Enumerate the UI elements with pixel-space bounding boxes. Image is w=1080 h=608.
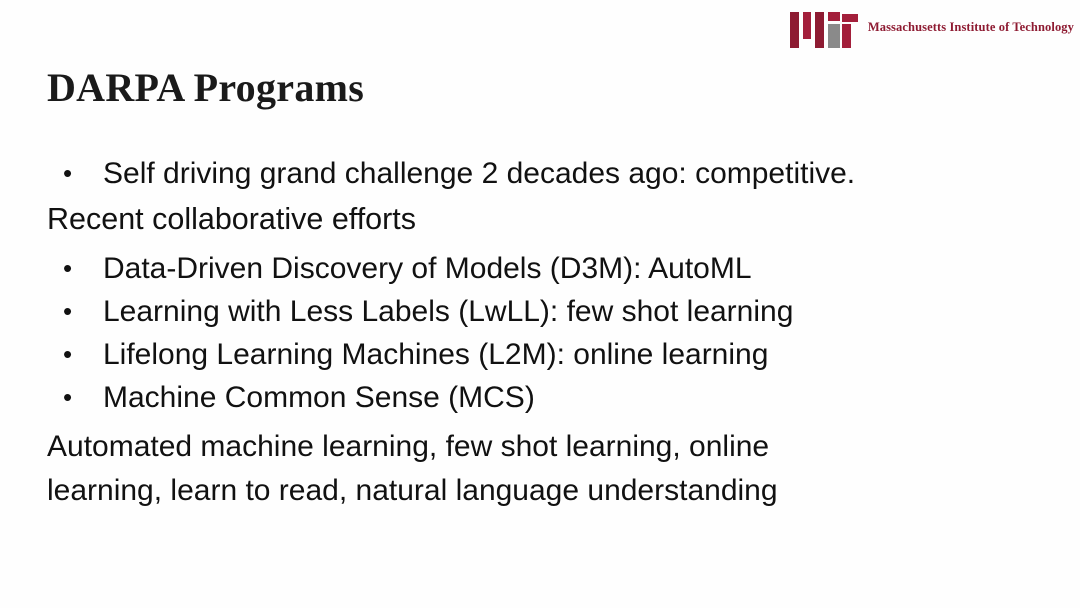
bullet-icon: • <box>46 376 103 419</box>
bullet-icon: • <box>46 152 103 195</box>
logo-bar-m-left <box>790 12 799 48</box>
list-item: • Lifelong Learning Machines (L2M): onli… <box>46 333 1050 376</box>
list-item-label: Lifelong Learning Machines (L2M): online… <box>103 333 768 376</box>
list-item: • Self driving grand challenge 2 decades… <box>46 152 1050 195</box>
mit-wordmark: Massachusetts Institute of Technology <box>868 20 1074 37</box>
list-item: • Machine Common Sense (MCS) <box>46 376 1050 419</box>
logo-bar-m-right <box>815 12 824 48</box>
list-item-label: Learning with Less Labels (LwLL): few sh… <box>103 290 793 333</box>
program-list: • Data-Driven Discovery of Models (D3M):… <box>46 247 1050 419</box>
bullet-icon: • <box>46 290 103 333</box>
mit-logo-mark-icon <box>790 8 858 48</box>
section-lead-line: Recent collaborative efforts <box>46 195 1050 243</box>
summary-line: learning, learn to read, natural languag… <box>47 469 1050 513</box>
mit-logo: Massachusetts Institute of Technology <box>790 8 1074 48</box>
logo-bar-m-middle <box>803 12 811 39</box>
summary-line: Automated machine learning, few shot lea… <box>47 425 1050 469</box>
logo-bar-i-top <box>828 12 840 21</box>
logo-bar-t-stem <box>842 24 851 48</box>
bullet-icon: • <box>46 333 103 376</box>
logo-bar-i-stem <box>828 24 840 48</box>
slide-body: • Self driving grand challenge 2 decades… <box>46 152 1050 513</box>
logo-bar-t-top <box>842 14 858 22</box>
bullet-icon: • <box>46 247 103 290</box>
page-title: DARPA Programs <box>47 64 364 111</box>
list-item-label: Self driving grand challenge 2 decades a… <box>103 152 855 195</box>
list-item-label: Machine Common Sense (MCS) <box>103 376 535 419</box>
list-item-label: Data-Driven Discovery of Models (D3M): A… <box>103 247 752 290</box>
summary-paragraph: Automated machine learning, few shot lea… <box>46 425 1050 513</box>
list-item: • Learning with Less Labels (LwLL): few … <box>46 290 1050 333</box>
list-item: • Data-Driven Discovery of Models (D3M):… <box>46 247 1050 290</box>
slide-canvas: Massachusetts Institute of Technology DA… <box>0 0 1080 608</box>
